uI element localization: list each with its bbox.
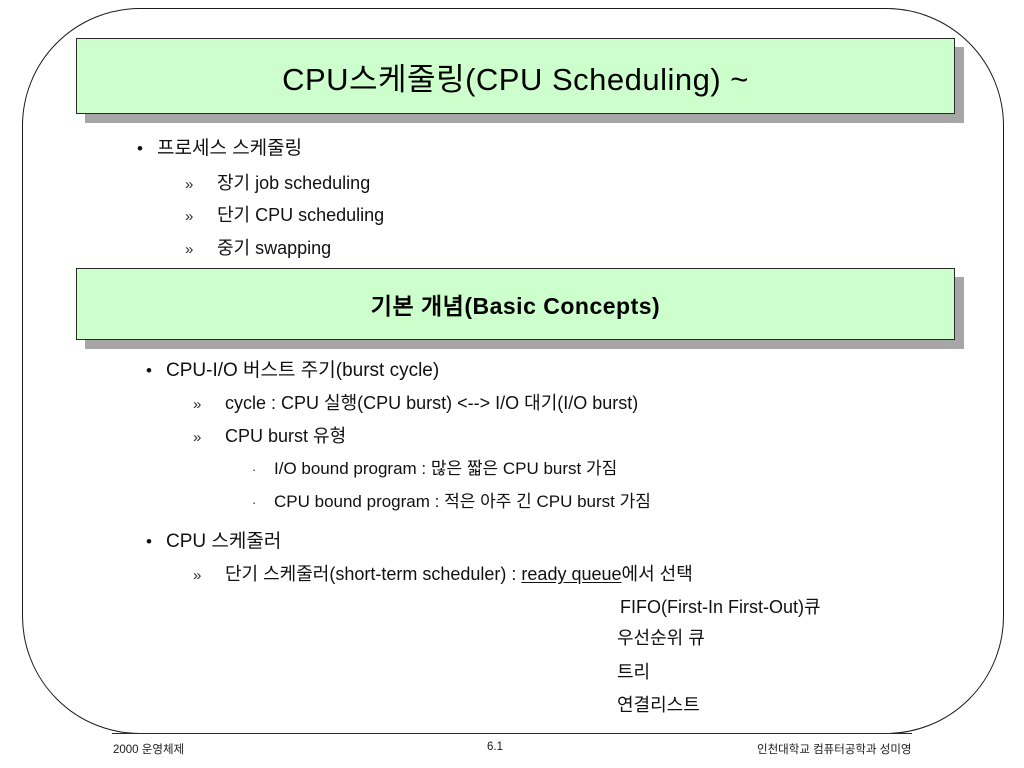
- queue-type-tree: 트리: [617, 662, 650, 683]
- footer-course-label: 2000 운영체제: [113, 741, 184, 757]
- bullet-label: CPU 스케줄러: [166, 531, 281, 552]
- disc-bullet-icon: •: [146, 360, 166, 382]
- subsubbullet-label: CPU bound program : 적은 아주 긴 CPU burst 가짐: [274, 492, 651, 511]
- subbullet-label: 장기 job scheduling: [217, 173, 370, 193]
- subbullet-label: CPU burst 유형: [225, 426, 346, 446]
- subbullet-medium-term: »중기 swapping: [185, 238, 331, 260]
- subbullet-long-term: »장기 job scheduling: [185, 173, 370, 195]
- slide-body: •프로세스 스케줄링 »장기 job scheduling »단기 CPU sc…: [0, 0, 1024, 768]
- bullet-process-scheduling: •프로세스 스케줄링: [137, 138, 302, 160]
- bullet-burst-cycle: •CPU-I/O 버스트 주기(burst cycle): [146, 360, 439, 382]
- bullet-label: 프로세스 스케줄링: [157, 138, 302, 159]
- footer-author-label: 인천대학교 컴퓨터공학과 성미영: [757, 741, 912, 757]
- guillemet-bullet-icon: »: [185, 239, 217, 260]
- footer-divider: [112, 733, 912, 734]
- subbullet-label: 단기 CPU scheduling: [217, 205, 384, 225]
- queue-type-priority: 우선순위 큐: [617, 628, 705, 649]
- scheduler-text-prefix: 단기 스케줄러(short-term scheduler) :: [225, 564, 521, 584]
- subbullet-short-term: »단기 CPU scheduling: [185, 205, 384, 227]
- subsubbullet-cpu-bound: ·CPU bound program : 적은 아주 긴 CPU burst 가…: [252, 492, 651, 513]
- subbullet-burst-types: »CPU burst 유형: [193, 426, 346, 448]
- ready-queue-emphasis: ready queue: [521, 564, 621, 584]
- disc-bullet-icon: •: [146, 531, 166, 553]
- footer-page-number: 6.1: [487, 741, 503, 753]
- bullet-label: CPU-I/O 버스트 주기(burst cycle): [166, 360, 439, 381]
- guillemet-bullet-icon: »: [193, 394, 225, 415]
- queue-type-linked-list: 연결리스트: [617, 695, 700, 716]
- disc-bullet-icon: •: [137, 138, 157, 160]
- dot-bullet-icon: ·: [252, 460, 274, 480]
- dot-bullet-icon: ·: [252, 493, 274, 513]
- subbullet-cycle-definition: »cycle : CPU 실행(CPU burst) <--> I/O 대기(I…: [193, 393, 638, 415]
- guillemet-bullet-icon: »: [193, 565, 225, 586]
- guillemet-bullet-icon: »: [185, 206, 217, 227]
- subsubbullet-io-bound: ·I/O bound program : 많은 짧은 CPU burst 가짐: [252, 459, 617, 480]
- guillemet-bullet-icon: »: [185, 174, 217, 195]
- queue-type-fifo: FIFO(First-In First-Out)큐: [620, 597, 821, 618]
- guillemet-bullet-icon: »: [193, 427, 225, 448]
- subbullet-label: 중기 swapping: [217, 238, 331, 258]
- subsubbullet-label: I/O bound program : 많은 짧은 CPU burst 가짐: [274, 459, 617, 478]
- subbullet-label: cycle : CPU 실행(CPU burst) <--> I/O 대기(I/…: [225, 393, 638, 413]
- scheduler-text-suffix: 에서 선택: [622, 564, 693, 584]
- bullet-cpu-scheduler: •CPU 스케줄러: [146, 531, 281, 553]
- subbullet-short-term-scheduler: »단기 스케줄러(short-term scheduler) : ready q…: [193, 564, 693, 586]
